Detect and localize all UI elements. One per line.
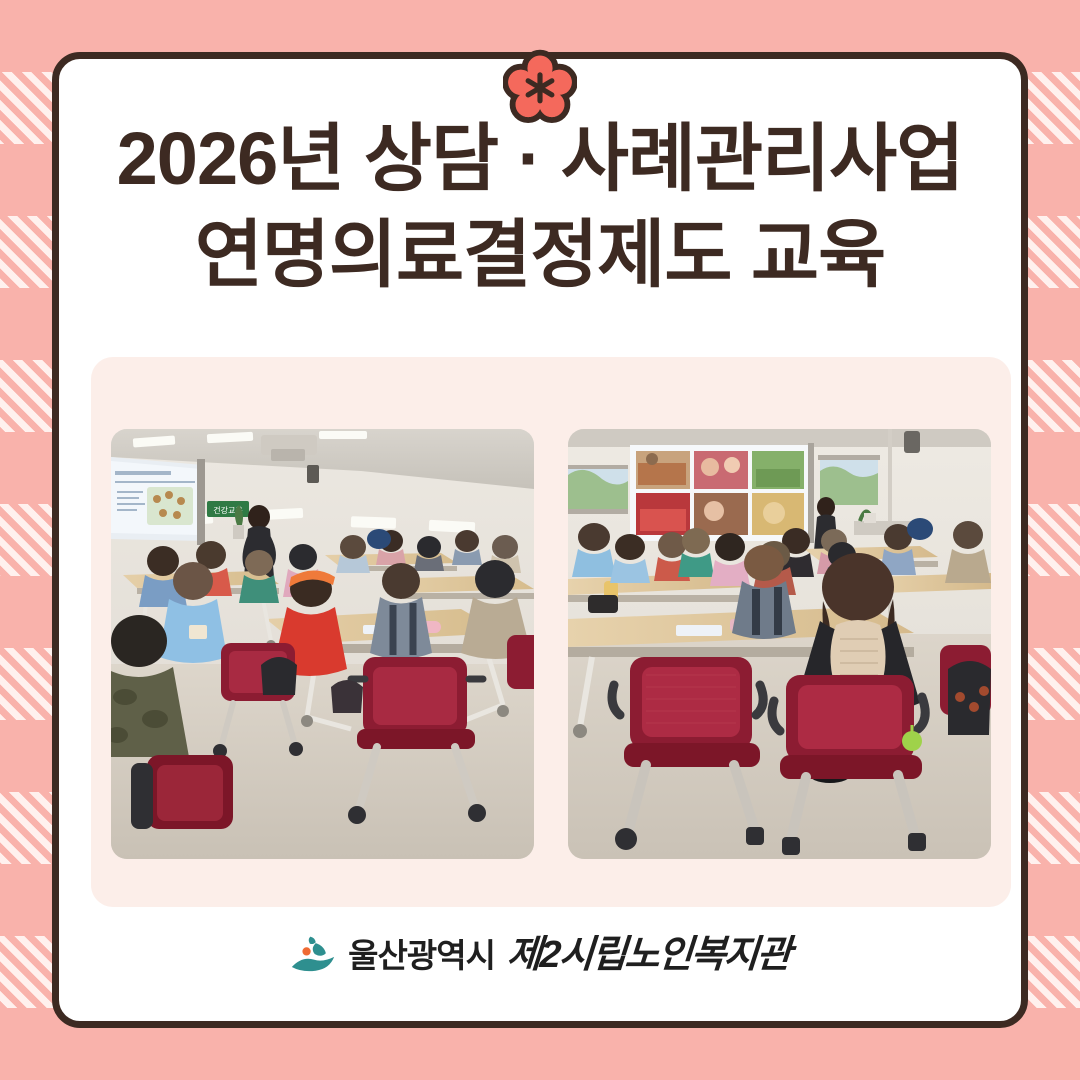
title-line-1: 2026년 상담 · 사례관리사업	[59, 113, 1021, 205]
page-title: 2026년 상담 · 사례관리사업 연명의료결정제도 교육	[59, 113, 1021, 301]
title-line-2: 연명의료결정제도 교육	[59, 209, 1021, 301]
logo-center-name: 제2시립노인복지관	[506, 936, 791, 974]
photo-row: 건강교육	[111, 429, 991, 859]
photo-panel: 건강교육	[91, 357, 1011, 907]
plum-blossom-icon	[503, 49, 577, 123]
poster-card: 2026년 상담 · 사례관리사업 연명의료결정제도 교육	[52, 52, 1028, 1028]
ulsan-city-emblem-icon	[290, 933, 336, 977]
photo-lecture-room-back-view	[568, 429, 991, 859]
footer-logo: 울산광역시 제2시립노인복지관	[59, 933, 1021, 977]
logo-city-name: 울산광역시	[348, 939, 495, 972]
photo-lecture-room-front-view: 건강교육	[111, 429, 534, 859]
